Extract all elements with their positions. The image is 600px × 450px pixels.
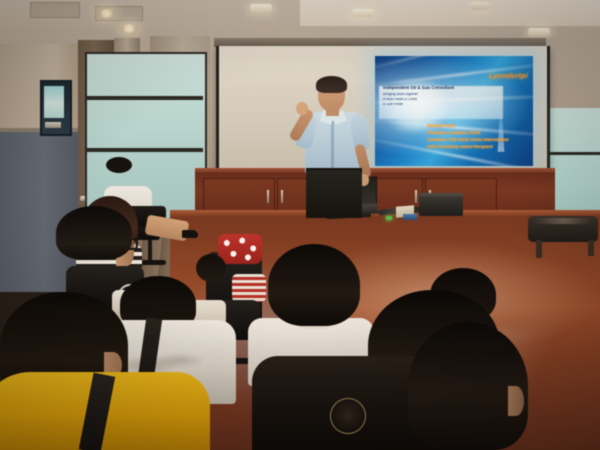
cabinet-handle[interactable]: [281, 190, 283, 203]
presenter: [296, 78, 380, 218]
audience-member-ear: [508, 386, 524, 416]
ceiling-downlight-icon: [98, 9, 115, 18]
cabinet-handle[interactable]: [415, 190, 417, 203]
slide-presenter-line: 2009 Friendship Award Recipient: [427, 145, 531, 150]
projected-slide: Lyondurtpi Independent Oil & Gas Consult…: [375, 56, 533, 166]
audience-member-polka-top: [218, 234, 262, 264]
projector[interactable]: [419, 197, 463, 216]
ceiling-downlight-icon: [528, 28, 550, 36]
wall-panel-display: [44, 86, 64, 118]
slide-heading: Independent Oil & Gas Consultant: [383, 86, 501, 91]
slide-title: Lyondurtpi: [489, 73, 529, 80]
tshirt-logo-badge: 🌴: [330, 398, 366, 434]
slide-presenter-line: Chairman, SPE North China International: [427, 138, 531, 143]
audience-member-hair: [106, 157, 132, 173]
audience-member-shoe: [182, 230, 198, 238]
audience-member-hair: [56, 206, 132, 260]
audience-member-head: [196, 254, 226, 282]
slide-presenter-line: Ramsey Fahel: [427, 124, 531, 129]
slide-subline: & Gulf Profile: [383, 103, 501, 107]
presentation-photo: Lyondurtpi Independent Oil & Gas Consult…: [0, 0, 600, 450]
slide-subline: in Asia Pacific & China: [383, 98, 501, 102]
glass-mullion: [85, 96, 203, 100]
status-led-icon: [386, 216, 392, 220]
audience-member-hair: [268, 244, 360, 326]
ceiling-vent: [30, 2, 80, 18]
desk-device: [403, 214, 417, 220]
glass-mullion: [85, 148, 203, 152]
ceiling-downlight-icon: [250, 4, 272, 12]
ceiling-downlight-icon: [121, 24, 137, 33]
ceiling-downlight-icon: [352, 9, 374, 17]
ceiling-downlight-icon: [470, 2, 490, 10]
presenter-hair: [316, 76, 347, 93]
wall-panel-button[interactable]: [45, 122, 61, 128]
slide-subline: Bringing asset together: [383, 93, 501, 97]
ottoman-leg: [536, 240, 542, 258]
presenter-shirt-placket: [331, 121, 334, 173]
slide-presenter-line: President, Anadarko China: [427, 131, 531, 136]
presenter-trousers: [306, 170, 362, 218]
ottoman-leg: [588, 240, 594, 256]
ottoman-highlight: [533, 218, 593, 224]
chair-post: [148, 240, 152, 262]
cabinet-handle[interactable]: [267, 190, 269, 203]
audience-member-striped-top: [232, 274, 266, 302]
ceiling-soffit: [300, 0, 600, 26]
presenter-hand-raised: [296, 102, 308, 115]
